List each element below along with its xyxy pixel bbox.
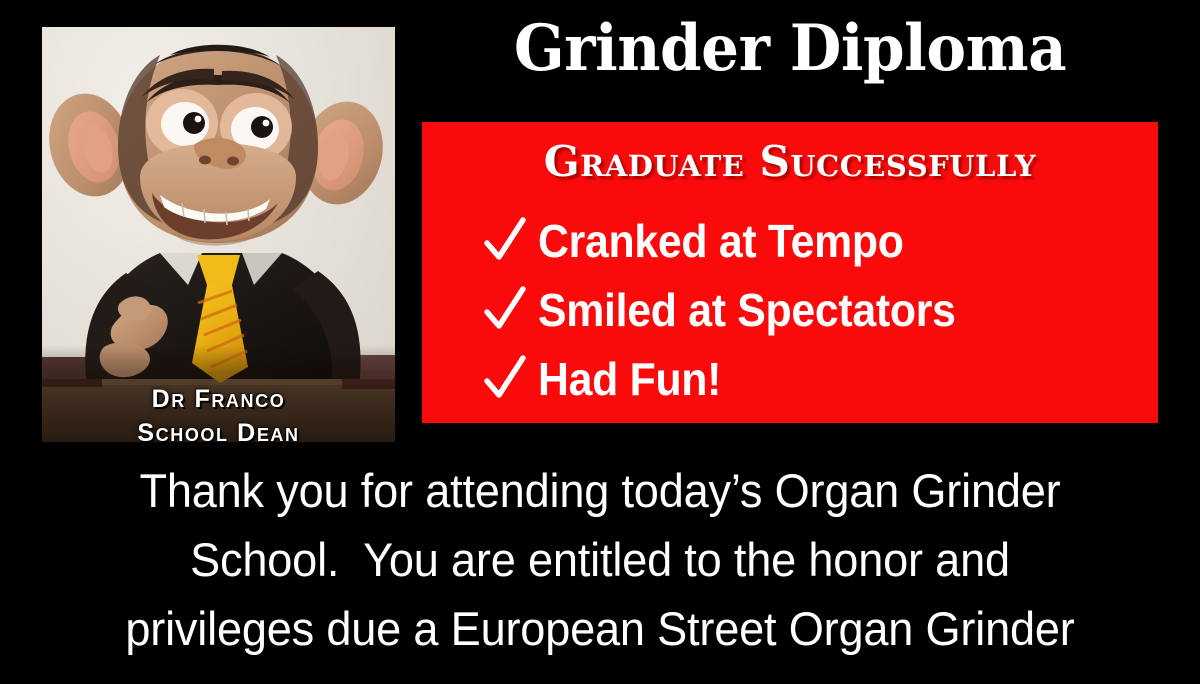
checklist-label: Smiled at Spectators [538,284,956,336]
diploma-slide: Dr Franco School Dean Grinder Diploma Gr… [0,0,1200,684]
list-item: Had Fun! [422,344,1158,413]
list-item: Smiled at Spectators [422,275,1158,344]
checklist-label: Had Fun! [538,353,721,405]
achievement-checklist: Cranked at Tempo Smiled at Spectators Ha… [422,206,1158,413]
check-icon [482,353,528,405]
closing-paragraph: Thank you for attending today’s Organ Gr… [45,456,1155,663]
paragraph-line-3: privileges due a European Street Organ G… [45,594,1155,663]
dean-photo: Dr Franco School Dean [42,27,395,442]
paragraph-line-1: Thank you for attending today’s Organ Gr… [45,456,1155,525]
check-icon [482,215,528,267]
check-icon [482,284,528,336]
graduate-panel: Graduate Successfully Cranked at Tempo S… [422,122,1158,423]
monkey-puppet-illustration [42,27,395,442]
page-title: Grinder Diploma [446,12,1134,86]
photo-caption-line-2: School Dean [42,416,395,442]
panel-heading: Graduate Successfully [422,138,1158,186]
paragraph-line-2: School. You are entitled to the honor an… [45,525,1155,594]
photo-caption-line-1: Dr Franco [42,382,395,416]
list-item: Cranked at Tempo [422,206,1158,275]
checklist-label: Cranked at Tempo [538,215,904,267]
photo-caption: Dr Franco School Dean [42,382,395,442]
